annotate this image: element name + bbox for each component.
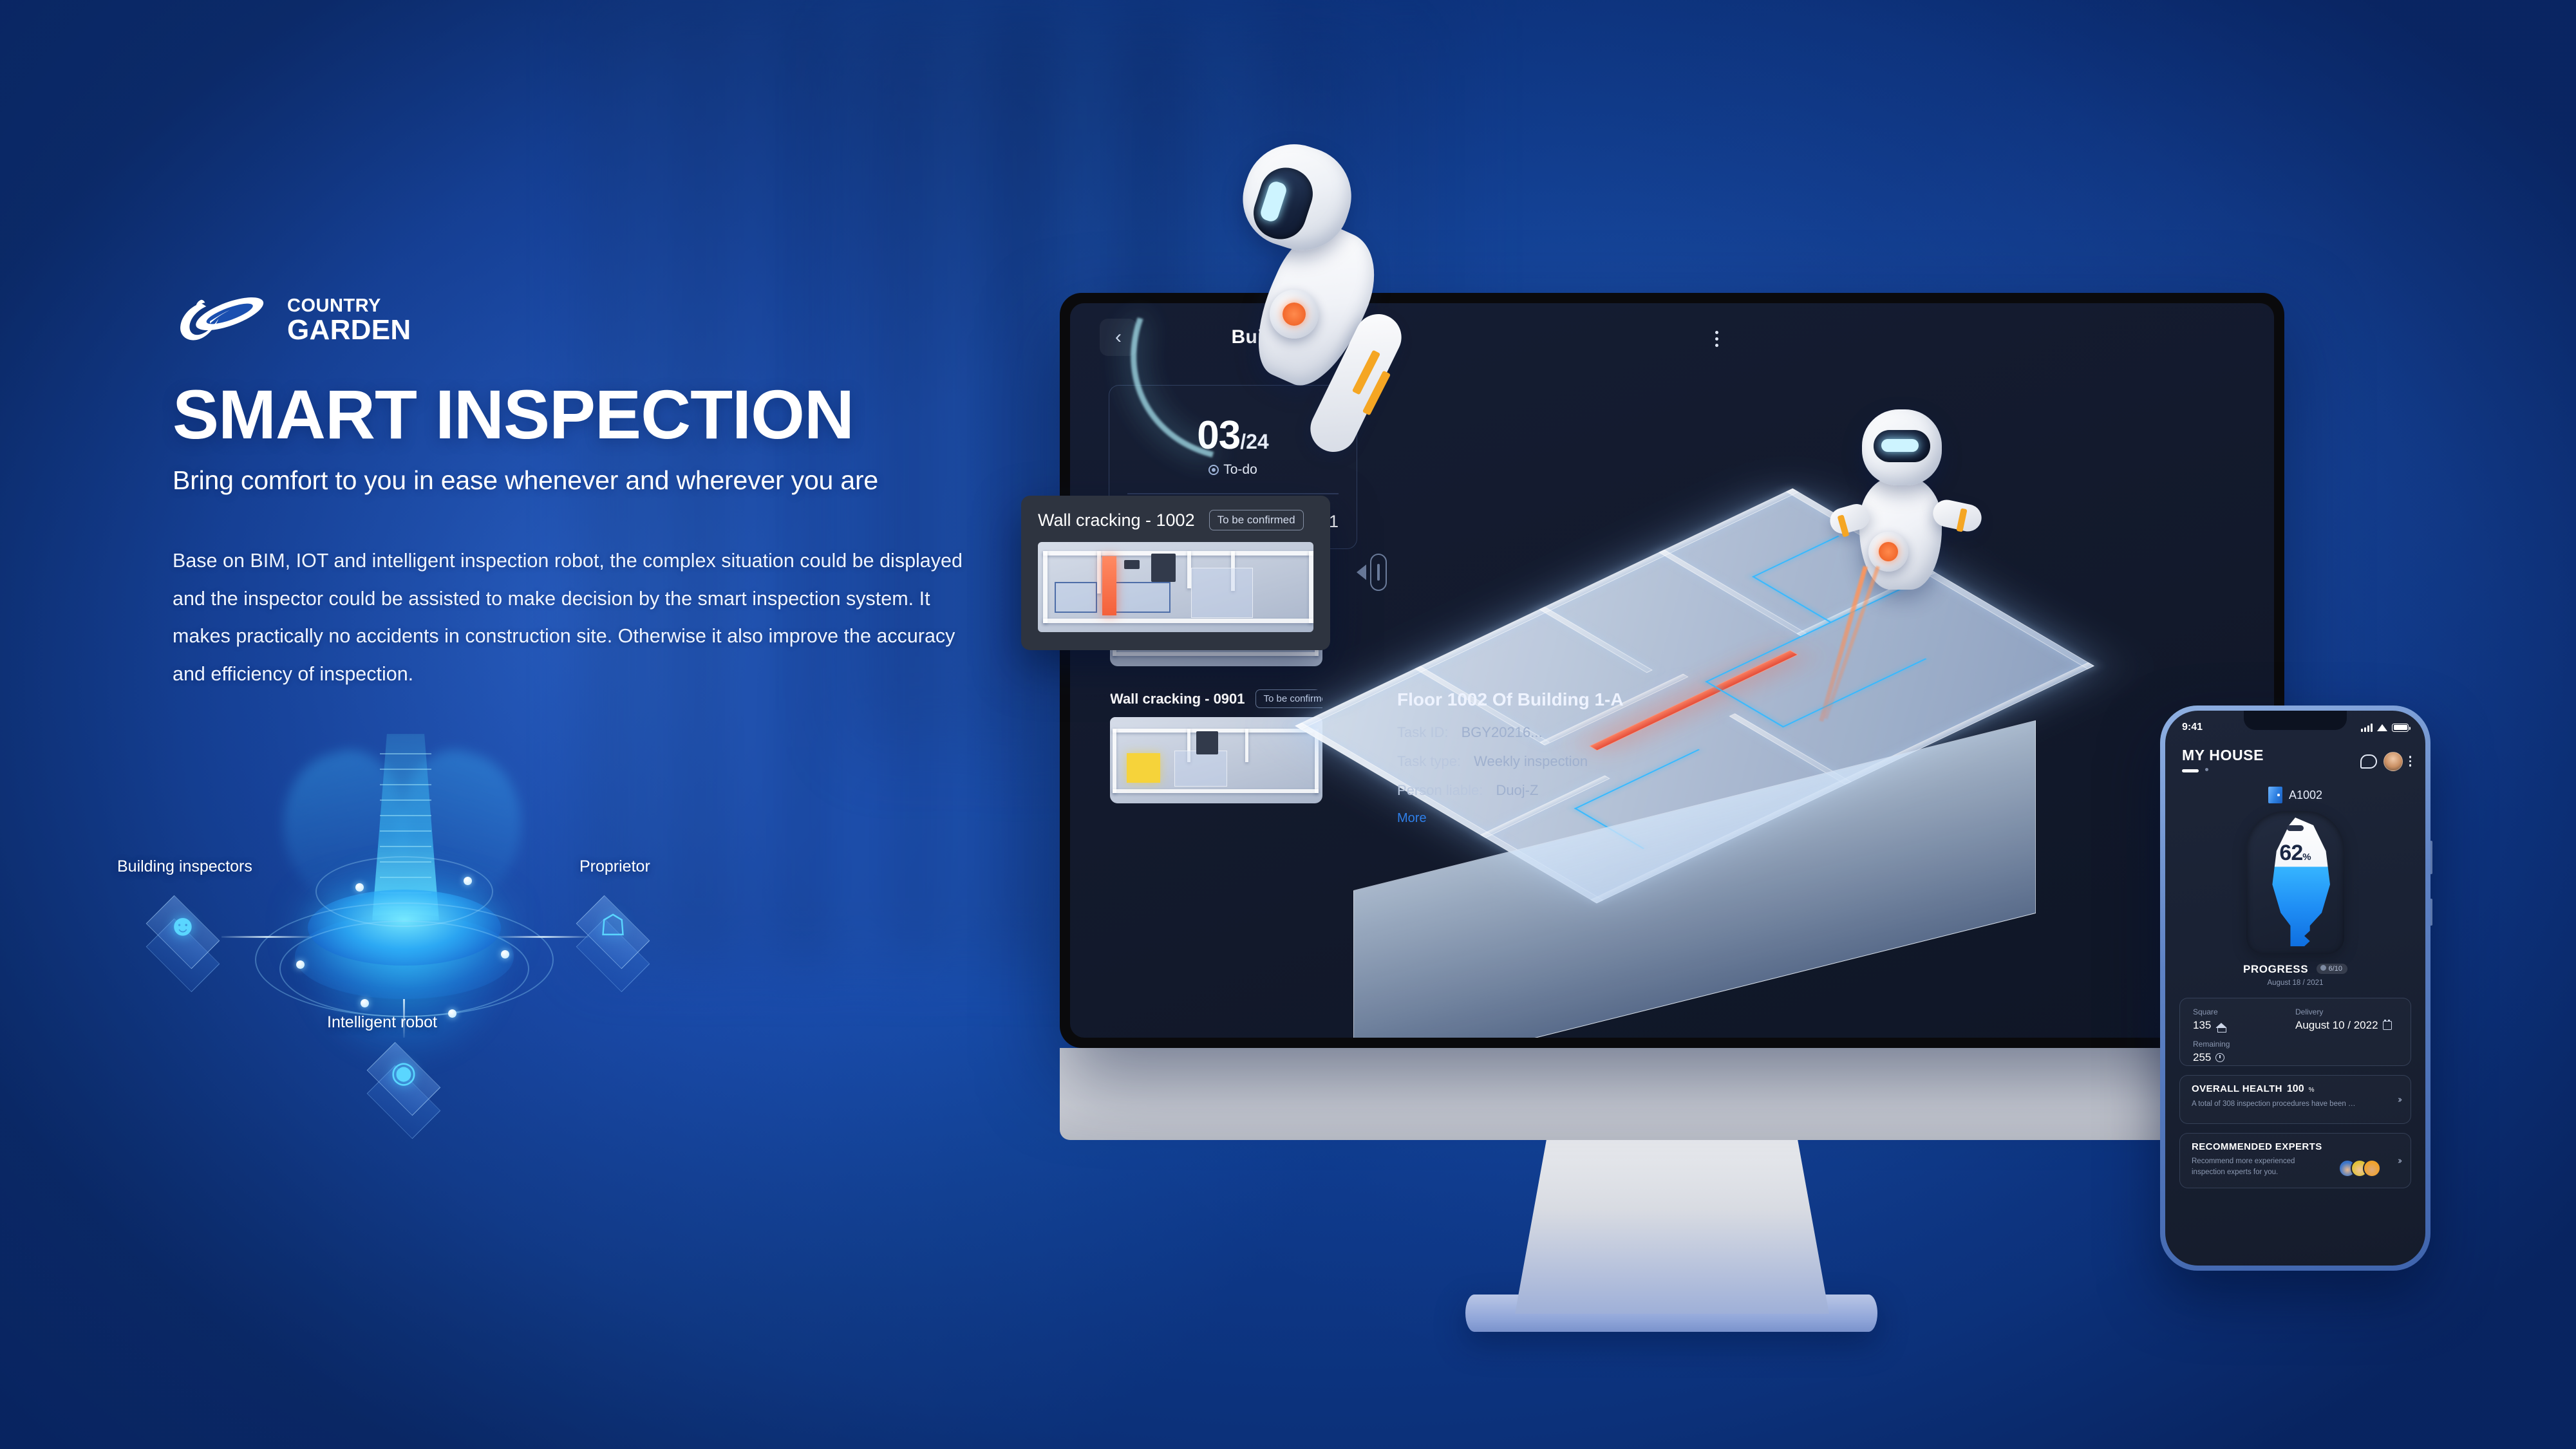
phone-room-selector[interactable]: A1002 bbox=[2165, 787, 2425, 803]
issue-detail-popup[interactable]: Wall cracking - 1002 To be confirmed bbox=[1021, 496, 1330, 650]
home-icon bbox=[2215, 1023, 2227, 1028]
stat-remaining: Remaining 255 bbox=[2193, 1040, 2295, 1064]
wifi-icon bbox=[2377, 724, 2387, 731]
target-icon bbox=[1208, 465, 1219, 475]
chevron-right-icon: ›› bbox=[2398, 1155, 2400, 1166]
progress-value: 62 bbox=[2279, 841, 2302, 865]
drag-grip-icon bbox=[1370, 554, 1387, 591]
user-avatar[interactable] bbox=[2383, 752, 2403, 771]
kebab-menu-icon[interactable] bbox=[1715, 328, 1718, 350]
task-type-value: Weekly inspection bbox=[1474, 753, 1588, 769]
health-value: 100 bbox=[2287, 1083, 2304, 1095]
status-badge: To be confirmed bbox=[1255, 689, 1322, 708]
stat-divider bbox=[1127, 493, 1339, 494]
phone-status-bar: 9:41 bbox=[2165, 720, 2425, 735]
stat-square-label: Square bbox=[2193, 1007, 2295, 1016]
more-link[interactable]: More bbox=[1397, 811, 1758, 826]
stat-delivery-label: Delivery bbox=[2295, 1007, 2398, 1016]
floor-info-row: Task ID: BGY20216... bbox=[1397, 724, 1758, 741]
stat-remaining-value: 255 bbox=[2193, 1051, 2211, 1064]
floor-info-title: Floor 1002 Of Building 1-A bbox=[1397, 689, 1758, 710]
stat-delivery: Delivery August 10 / 2022 bbox=[2295, 1007, 2398, 1032]
mobile-phone-mockup: 9:41 MY HOUSE bbox=[2160, 706, 2430, 1271]
hero-content: COUNTRY GARDEN SMART INSPECTION Bring co… bbox=[173, 293, 1010, 693]
person-liable-key: Person liable: bbox=[1397, 782, 1483, 798]
progress-date: August 18 / 2021 bbox=[2165, 979, 2425, 987]
robot-eye bbox=[1881, 439, 1919, 452]
task-type-key: Task type: bbox=[1397, 753, 1461, 769]
issue-header: Wall cracking - 0901 To be confirmed bbox=[1110, 689, 1322, 708]
stats-row-2: Remaining 255 bbox=[2193, 1040, 2398, 1064]
ecosystem-diagram: ☻ Building inspectors ☖ Proprietor ◉ Int… bbox=[103, 734, 670, 1172]
phone-frame: 9:41 MY HOUSE bbox=[2160, 706, 2430, 1271]
health-title: OVERALL HEALTH bbox=[2192, 1083, 2282, 1094]
robot-body bbox=[1859, 476, 1942, 590]
country-garden-swoosh-logo-icon bbox=[173, 293, 278, 348]
progress-unit: % bbox=[2302, 852, 2311, 863]
robot-scanner-lens bbox=[1868, 532, 1908, 572]
stat-square: Square 135 bbox=[2193, 1007, 2295, 1032]
ecosystem-node-intelligent-robot[interactable]: ◉ bbox=[362, 1040, 445, 1123]
stat-remaining-label: Remaining bbox=[2193, 1040, 2295, 1049]
ecosystem-node-dot bbox=[296, 960, 305, 969]
experts-subtitle: Recommend more experienced inspection ex… bbox=[2192, 1156, 2320, 1177]
ecosystem-node-building-inspectors[interactable]: ☻ bbox=[142, 893, 224, 976]
progress-badge: 6/10 bbox=[2317, 964, 2347, 974]
ecosystem-label-building-inspectors: Building inspectors bbox=[117, 857, 252, 876]
collapse-arrow-icon bbox=[1357, 565, 1366, 580]
ecosystem-node-dot bbox=[361, 999, 369, 1007]
phone-page-title: MY HOUSE bbox=[2182, 747, 2264, 764]
health-unit: % bbox=[2309, 1087, 2315, 1094]
overall-health-card[interactable]: OVERALL HEALTH 100 % A total of 308 insp… bbox=[2179, 1075, 2411, 1124]
room-label: A1002 bbox=[2289, 789, 2322, 802]
hero-description: Base on BIM, IOT and intelligent inspect… bbox=[173, 542, 971, 693]
ecosystem-connector-left bbox=[221, 936, 312, 938]
panel-collapse-handle[interactable] bbox=[1357, 534, 1393, 611]
todo-label-row: To-do bbox=[1109, 462, 1357, 478]
robot-camera-lens bbox=[1270, 290, 1319, 339]
scanning-inspection-robot bbox=[1822, 406, 2015, 624]
popup-title: Wall cracking - 1002 bbox=[1038, 510, 1195, 530]
chevron-right-icon: ›› bbox=[2398, 1094, 2400, 1105]
logo-line-1: COUNTRY bbox=[287, 297, 411, 315]
monitor-chin bbox=[1060, 1048, 2284, 1140]
popup-status-badge: To be confirmed bbox=[1209, 510, 1304, 530]
door-icon bbox=[2268, 787, 2282, 803]
health-subtitle: A total of 308 inspection procedures hav… bbox=[2192, 1099, 2399, 1110]
progress-badge-text: 6/10 bbox=[2329, 965, 2342, 973]
expert-avatars-group bbox=[2344, 1159, 2381, 1177]
floorplan-thumbnail bbox=[1110, 717, 1322, 803]
stat-delivery-value: August 10 / 2022 bbox=[2295, 1019, 2378, 1032]
page-subtitle: Bring comfort to you in ease whenever an… bbox=[173, 465, 1010, 496]
stats-row-1: Square 135 Delivery August 10 / 2022 bbox=[2193, 1007, 2398, 1032]
floor-info-row: Task type: Weekly inspection bbox=[1397, 753, 1758, 770]
key-notch bbox=[2287, 825, 2304, 831]
flying-inspection-robot bbox=[1230, 129, 1500, 463]
todo-label: To-do bbox=[1223, 462, 1257, 478]
floor-info-row: Person liable: Duoj-Z bbox=[1397, 782, 1758, 799]
monitor-stand bbox=[1515, 1140, 1829, 1314]
task-id-value: BGY20216... bbox=[1462, 724, 1543, 740]
progress-summary: PROGRESS 6/10 August 18 / 2021 bbox=[2165, 963, 2425, 987]
recommended-experts-card[interactable]: RECOMMENDED EXPERTS Recommend more exper… bbox=[2179, 1133, 2411, 1188]
ecosystem-node-dot bbox=[448, 1009, 456, 1018]
kebab-menu-icon[interactable] bbox=[2409, 756, 2412, 767]
ecosystem-node-proprietor[interactable]: ☖ bbox=[572, 893, 654, 976]
ecosystem-label-proprietor: Proprietor bbox=[579, 857, 650, 876]
progress-label: PROGRESS bbox=[2243, 963, 2308, 976]
property-stats-card: Square 135 Delivery August 10 / 2022 Rem… bbox=[2179, 998, 2411, 1066]
person-house-icon: ☖ bbox=[572, 908, 654, 942]
clock-icon bbox=[2215, 1053, 2224, 1062]
title-underline bbox=[2182, 769, 2199, 772]
progress-key-gauge: 62% bbox=[2246, 811, 2344, 954]
person-liable-value: Duoj-Z bbox=[1496, 782, 1538, 798]
page-title: SMART INSPECTION bbox=[173, 379, 1010, 450]
stat-square-value: 135 bbox=[2193, 1019, 2211, 1032]
ecosystem-label-intelligent-robot: Intelligent robot bbox=[327, 1013, 437, 1032]
calendar-icon bbox=[2383, 1021, 2392, 1030]
robot-icon: ◉ bbox=[362, 1054, 445, 1089]
title-dot bbox=[2205, 768, 2208, 771]
chat-bubble-icon[interactable] bbox=[2360, 754, 2377, 769]
popup-floorplan bbox=[1038, 542, 1313, 632]
task-id-key: Task ID: bbox=[1397, 724, 1448, 740]
phone-app-header: MY HOUSE bbox=[2182, 747, 2411, 776]
low-risk-value: 1 bbox=[1329, 512, 1339, 532]
issue-thumbnail-item[interactable]: Wall cracking - 0901 To be confirmed bbox=[1110, 689, 1322, 803]
battery-icon bbox=[2392, 724, 2409, 732]
issue-title: Wall cracking - 0901 bbox=[1110, 691, 1245, 707]
status-time: 9:41 bbox=[2182, 722, 2203, 733]
phone-screen: 9:41 MY HOUSE bbox=[2165, 711, 2425, 1266]
brand-logo: COUNTRY GARDEN bbox=[173, 293, 1010, 348]
logo-line-2: GARDEN bbox=[287, 317, 411, 344]
ecosystem-node-dot bbox=[464, 877, 472, 885]
key-percent: 62% bbox=[2246, 841, 2344, 866]
ecosystem-node-dot bbox=[501, 950, 509, 958]
ecosystem-node-dot bbox=[355, 883, 364, 892]
experts-title: RECOMMENDED EXPERTS bbox=[2192, 1141, 2322, 1152]
hardhat-worker-icon: ☻ bbox=[142, 908, 224, 942]
ecosystem-orbit-3 bbox=[315, 856, 493, 927]
cellular-signal-icon bbox=[2361, 724, 2373, 732]
check-circle-icon bbox=[2320, 965, 2326, 971]
popup-header: Wall cracking - 1002 To be confirmed bbox=[1038, 510, 1313, 530]
floor-info-panel: Floor 1002 Of Building 1-A Task ID: BGY2… bbox=[1397, 689, 1758, 826]
